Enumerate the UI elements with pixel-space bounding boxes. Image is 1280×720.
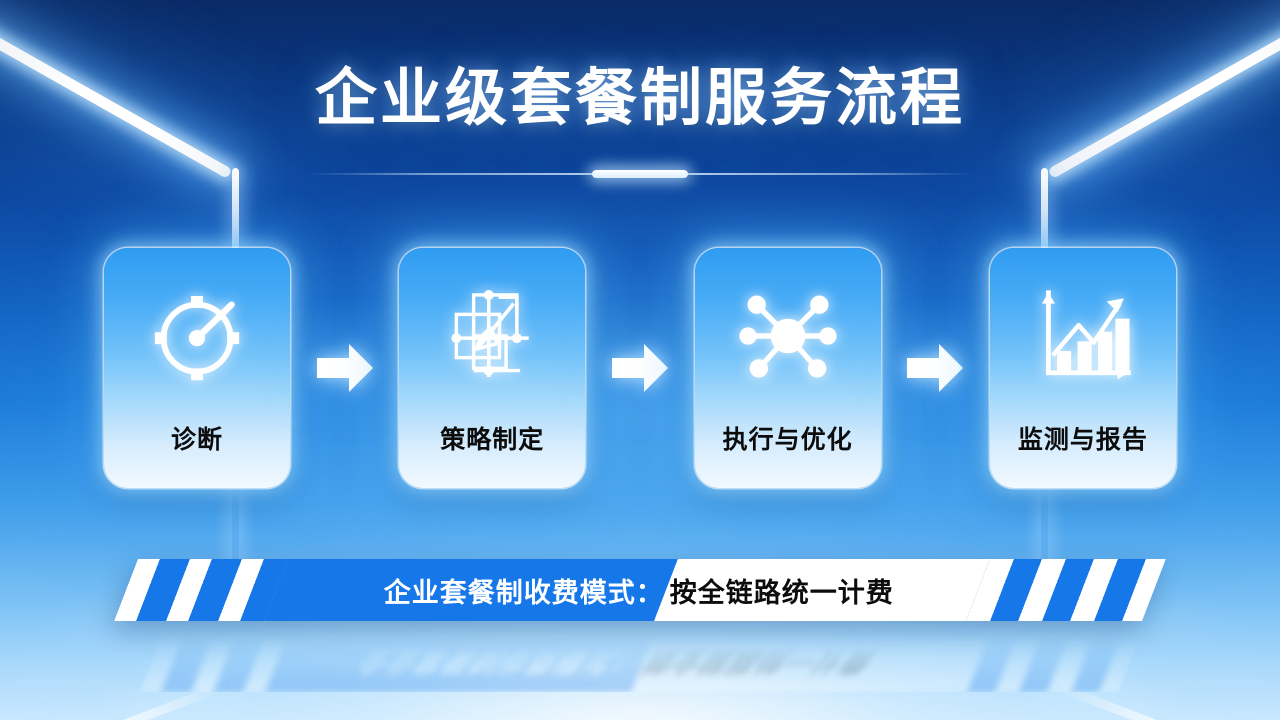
process-flow: 诊断 <box>104 245 1176 490</box>
reflection-value: 按全链路统一计费 <box>627 645 885 684</box>
pricing-banner: 企业套餐制收费模式： 按全链路统一计费 <box>114 559 1166 621</box>
banner-floor-reflection: 企业套餐制收费模式： 按全链路统一计费 <box>139 636 1140 692</box>
flow-step-label-2: 策略制定 <box>399 420 585 456</box>
reflection-stripes-right <box>943 636 1140 692</box>
banner-label-segment: 企业套餐制收费模式： <box>264 559 678 621</box>
flow-step-label-3: 执行与优化 <box>695 420 881 456</box>
arrow-right-icon <box>608 337 672 399</box>
bar-chart-trend-icon <box>1029 282 1137 390</box>
slide-canvas: 企业级套餐制服务流程 诊断 <box>0 0 1280 720</box>
banner-value: 按全链路统一计费 <box>666 571 894 610</box>
network-hub-icon <box>734 282 842 390</box>
banner-stripes-left <box>114 559 288 621</box>
floor-light-streak-left <box>0 680 232 720</box>
flow-step-card-4[interactable]: 监测与报告 <box>990 248 1176 488</box>
banner-stripes-right <box>966 559 1166 621</box>
reflection-stripes-left <box>139 636 310 692</box>
floor-light-streak-right <box>1048 680 1280 720</box>
title-block: 企业级套餐制服务流程 <box>0 66 1280 133</box>
flow-step-card-1[interactable]: 诊断 <box>104 248 290 488</box>
flow-step-label-4: 监测与报告 <box>990 420 1176 456</box>
reflection-value-segment: 按全链路统一计费 <box>631 636 964 692</box>
flow-step-label-1: 诊断 <box>104 420 290 456</box>
reflection-label-segment: 企业套餐制收费模式： <box>289 636 652 692</box>
flow-step-card-3[interactable]: 执行与优化 <box>695 248 881 488</box>
arrow-right-icon <box>313 337 377 399</box>
gauge-dial-icon <box>143 282 251 390</box>
reflection-label: 企业套餐制收费模式： <box>345 645 657 684</box>
arrow-right-icon <box>903 337 967 399</box>
page-title: 企业级套餐制服务流程 <box>0 66 1280 133</box>
banner-label: 企业套餐制收费模式： <box>384 571 666 610</box>
banner-value-segment: 按全链路统一计费 <box>654 559 990 621</box>
title-underline-rule <box>310 173 970 175</box>
strategy-grid-chart-icon <box>438 282 546 390</box>
flow-step-card-2[interactable]: 策略制定 <box>399 248 585 488</box>
